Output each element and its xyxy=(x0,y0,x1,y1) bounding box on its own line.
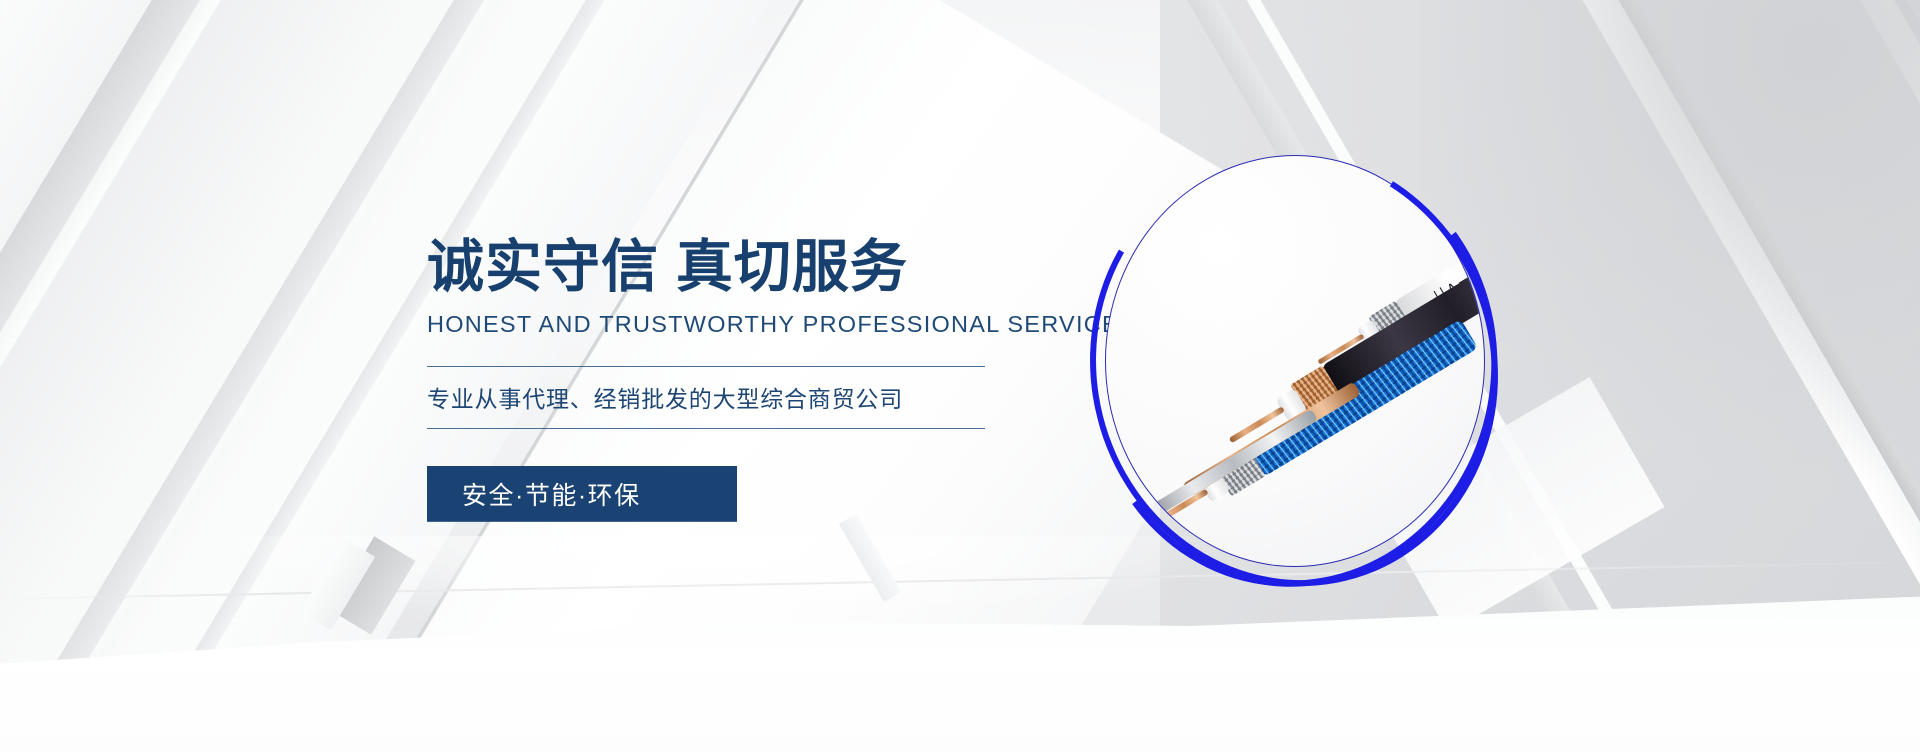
banner-headline: 诚实守信 真切服务 xyxy=(427,236,1047,299)
ribbon-label: 安全·节能·环保 xyxy=(427,466,737,522)
divider-line-top xyxy=(427,366,985,367)
divider-line-bottom xyxy=(427,428,985,429)
product-medallion: | | ∧ — ) ) xyxy=(1105,155,1525,575)
feature-ribbon[interactable]: 安全·节能·环保 xyxy=(427,466,737,522)
hero-banner: 诚实守信 真切服务 HONEST AND TRUSTWORTHY PROFESS… xyxy=(0,0,1920,752)
banner-description: 专业从事代理、经销批发的大型综合商贸公司 xyxy=(427,367,985,428)
banner-copy-block: 诚实守信 真切服务 HONEST AND TRUSTWORTHY PROFESS… xyxy=(427,236,1047,522)
banner-description-group: 专业从事代理、经销批发的大型综合商贸公司 xyxy=(427,366,985,429)
banner-subtitle-english: HONEST AND TRUSTWORTHY PROFESSIONAL SERV… xyxy=(427,311,1047,338)
